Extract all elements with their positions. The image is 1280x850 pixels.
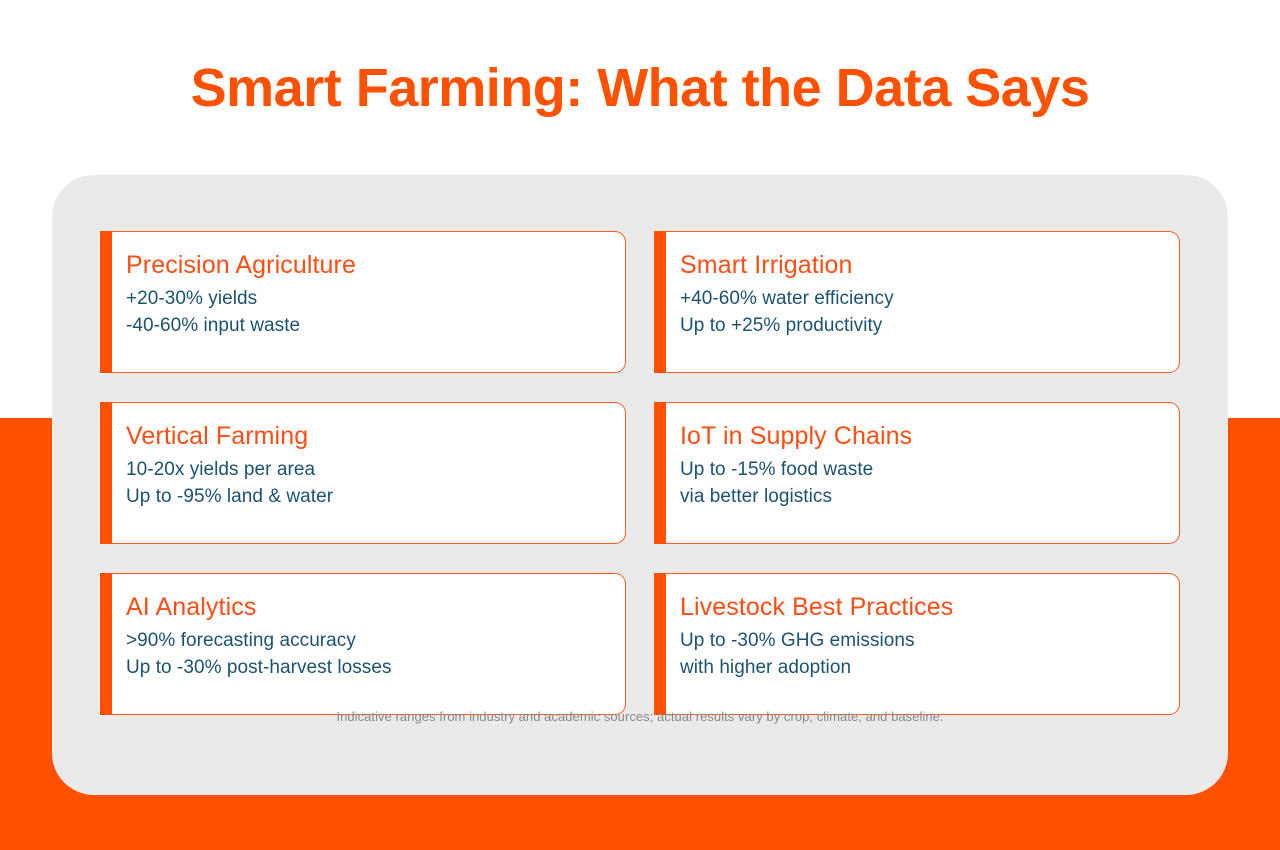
card-stat: >90% forecasting accuracy [126,628,607,655]
card-title: AI Analytics [126,590,607,624]
card-grid: Precision Agriculture +20-30% yields -40… [100,231,1180,715]
card-vertical-farming[interactable]: Vertical Farming 10-20x yields per area … [100,402,626,544]
card-stat: Up to +25% productivity [680,313,1161,340]
card-title: Smart Irrigation [680,248,1161,282]
card-stat: +20-30% yields [126,286,607,313]
card-stat: via better logistics [680,484,1161,511]
page-title: Smart Farming: What the Data Says [0,46,1280,130]
card-body: IoT in Supply Chains Up to -15% food was… [666,402,1180,544]
card-smart-irrigation[interactable]: Smart Irrigation +40-60% water efficienc… [654,231,1180,373]
card-body: AI Analytics >90% forecasting accuracy U… [112,573,626,715]
card-body: Smart Irrigation +40-60% water efficienc… [666,231,1180,373]
card-body: Vertical Farming 10-20x yields per area … [112,402,626,544]
card-title: Livestock Best Practices [680,590,1161,624]
card-stat: 10-20x yields per area [126,457,607,484]
card-stat: Up to -30% GHG emissions [680,628,1161,655]
card-body: Precision Agriculture +20-30% yields -40… [112,231,626,373]
footnote: Indicative ranges from industry and acad… [52,707,1228,727]
card-title: IoT in Supply Chains [680,419,1161,453]
card-precision-agriculture[interactable]: Precision Agriculture +20-30% yields -40… [100,231,626,373]
card-ai-analytics[interactable]: AI Analytics >90% forecasting accuracy U… [100,573,626,715]
card-stat: Up to -95% land & water [126,484,607,511]
card-stat: Up to -30% post-harvest losses [126,655,607,682]
card-title: Precision Agriculture [126,248,607,282]
card-accent-bar [100,402,112,544]
card-livestock-best-practices[interactable]: Livestock Best Practices Up to -30% GHG … [654,573,1180,715]
card-accent-bar [654,402,666,544]
card-stat: -40-60% input waste [126,313,607,340]
card-accent-bar [100,231,112,373]
card-stat: Up to -15% food waste [680,457,1161,484]
card-stat: +40-60% water efficiency [680,286,1161,313]
card-stat: with higher adoption [680,655,1161,682]
card-body: Livestock Best Practices Up to -30% GHG … [666,573,1180,715]
card-iot-supply-chains[interactable]: IoT in Supply Chains Up to -15% food was… [654,402,1180,544]
card-accent-bar [654,573,666,715]
card-title: Vertical Farming [126,419,607,453]
content-panel: Precision Agriculture +20-30% yields -40… [52,175,1228,795]
card-accent-bar [654,231,666,373]
card-accent-bar [100,573,112,715]
